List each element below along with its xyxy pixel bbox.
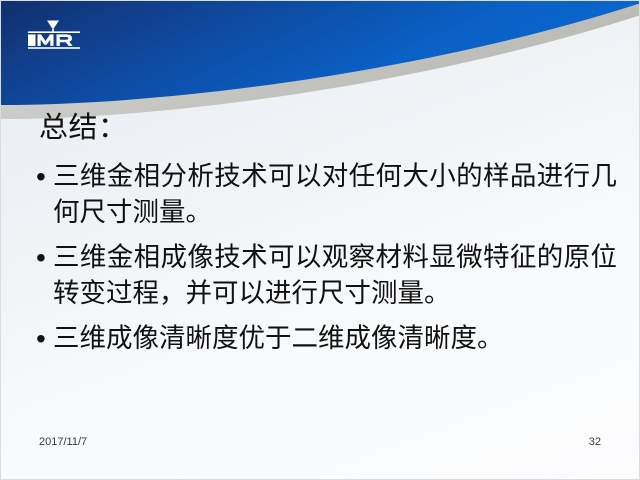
footer-date: 2017/11/7 (39, 436, 87, 448)
list-item: • 三维成像清晰度优于二维成像清晰度。 (31, 321, 617, 357)
presentation-slide: IMR 总结： • 三维金相分析技术可以对任何大小的样品进行几何尺寸测量。 • … (0, 0, 640, 480)
footer-page-number: 32 (589, 436, 601, 448)
slide-title: 总结： (39, 109, 128, 145)
bullet-marker-icon: • (31, 159, 53, 195)
list-item: • 三维金相成像技术可以观察材料显微特征的原位转变过程，并可以进行尺寸测量。 (31, 240, 617, 312)
bullet-marker-icon: • (31, 240, 53, 276)
list-item: • 三维金相分析技术可以对任何大小的样品进行几何尺寸测量。 (31, 159, 617, 231)
bullet-text: 三维成像清晰度优于二维成像清晰度。 (53, 321, 617, 357)
bullet-text: 三维金相分析技术可以对任何大小的样品进行几何尺寸测量。 (53, 159, 617, 231)
imr-logo: IMR (26, 20, 86, 50)
slide-body-list: • 三维金相分析技术可以对任何大小的样品进行几何尺寸测量。 • 三维金相成像技术… (31, 159, 617, 366)
bullet-marker-icon: • (31, 321, 53, 357)
bullet-text: 三维金相成像技术可以观察材料显微特征的原位转变过程，并可以进行尺寸测量。 (53, 240, 617, 312)
